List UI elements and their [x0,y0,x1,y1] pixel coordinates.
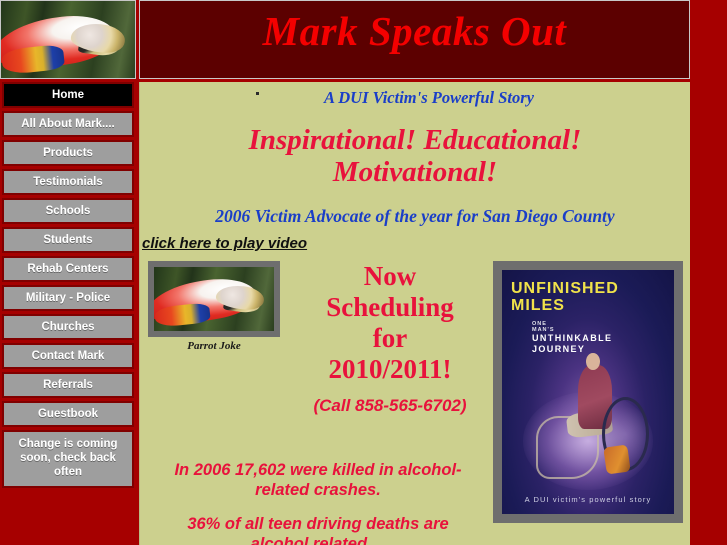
book-subtitle: UNTHINKABLE JOURNEY [532,333,612,355]
parrot-wing [1,44,65,75]
sidebar-item-rehab-centers[interactable]: Rehab Centers [2,256,134,282]
sidebar-item-all-about-mark[interactable]: All About Mark.... [2,111,134,137]
figure-head [586,353,600,370]
sidebar-item-guestbook[interactable]: Guestbook [2,401,134,427]
stat-line-1: In 2006 17,602 were killed in alcohol- [148,460,488,480]
award-text: 2006 Victim Advocate of the year for San… [146,206,684,227]
book-subtitle-small: ONE MAN'S [532,321,555,333]
parrot-illustration-thumb [154,267,274,331]
parrot-illustration [1,1,135,78]
headline-line-2: Motivational! [150,156,680,188]
middle-band: Parrot Joke Now Scheduling for 2010/2011… [140,261,690,421]
book-title: UNFINISHED MILES [511,280,619,314]
right-margin [690,0,727,545]
stat-line-3: 36% of all teen driving deaths are [148,514,488,534]
page-root: Mark Speaks Out Home All About Mark.... … [0,0,727,545]
sidebar-item-products[interactable]: Products [2,140,134,166]
sidebar-item-referrals[interactable]: Referrals [2,372,134,398]
parrot-beak [78,32,121,57]
play-video-link[interactable]: click here to play video [142,235,307,252]
sidebar-item-churches[interactable]: Churches [2,314,134,340]
debris-shape [603,444,631,474]
parrot-joke-image[interactable] [148,261,280,337]
sidebar-item-contact-mark[interactable]: Contact Mark [2,343,134,369]
parrot-beak-thumb [223,293,261,314]
main-content: A DUI Victim's Powerful Story Inspiratio… [139,82,690,545]
book-title-line-1: UNFINISHED [511,280,619,297]
sidebar-item-testimonials[interactable]: Testimonials [2,169,134,195]
sidebar-item-military-police[interactable]: Military - Police [2,285,134,311]
title-banner: Mark Speaks Out [139,0,690,79]
scheduling-line-2: Scheduling [290,292,490,323]
headline: Inspirational! Educational! Motivational… [150,124,680,188]
phone-number: (Call 858-565-6702) [260,396,520,416]
sidebar-item-students[interactable]: Students [2,227,134,253]
sidebar-item-schools[interactable]: Schools [2,198,134,224]
parrot-wing-thumb [154,303,211,329]
stat-line-4: alcohol related ... [148,534,488,545]
sidebar-nav: Home All About Mark.... Products Testimo… [0,82,136,545]
sidebar-item-home[interactable]: Home [2,82,134,108]
site-header: Mark Speaks Out [0,0,690,79]
header-parrot-image [0,0,136,79]
scheduling-headline: Now Scheduling for 2010/2011! [290,261,490,385]
parrot-joke-caption: Parrot Joke [148,340,280,352]
statistics-block: In 2006 17,602 were killed in alcohol- r… [148,460,488,545]
stat-spacer [148,500,488,514]
page-title: Mark Speaks Out [140,7,689,55]
book-subtitle-line-1: UNTHINKABLE [532,333,612,344]
scheduling-line-3: for [290,323,490,354]
scheduling-line-4: 2010/2011! [290,354,490,385]
book-footer-text: A DUI victim's powerful story [502,495,674,504]
sidebar-notice: Change is coming soon, check back often [2,430,134,488]
stat-line-2: related crashes. [148,480,488,500]
scheduling-line-1: Now [290,261,490,292]
book-cover-frame[interactable]: UNFINISHED MILES ONE MAN'S UNTHINKABLE J… [493,261,683,523]
tagline: A DUI Victim's Powerful Story [140,88,690,108]
book-title-line-2: MILES [511,297,619,314]
parrot-joke-block[interactable]: Parrot Joke [148,261,280,352]
book-cover-image: UNFINISHED MILES ONE MAN'S UNTHINKABLE J… [502,270,674,514]
decorative-dot [256,92,259,95]
book-subtitle-line-2: JOURNEY [532,344,612,355]
headline-line-1: Inspirational! Educational! [150,124,680,156]
